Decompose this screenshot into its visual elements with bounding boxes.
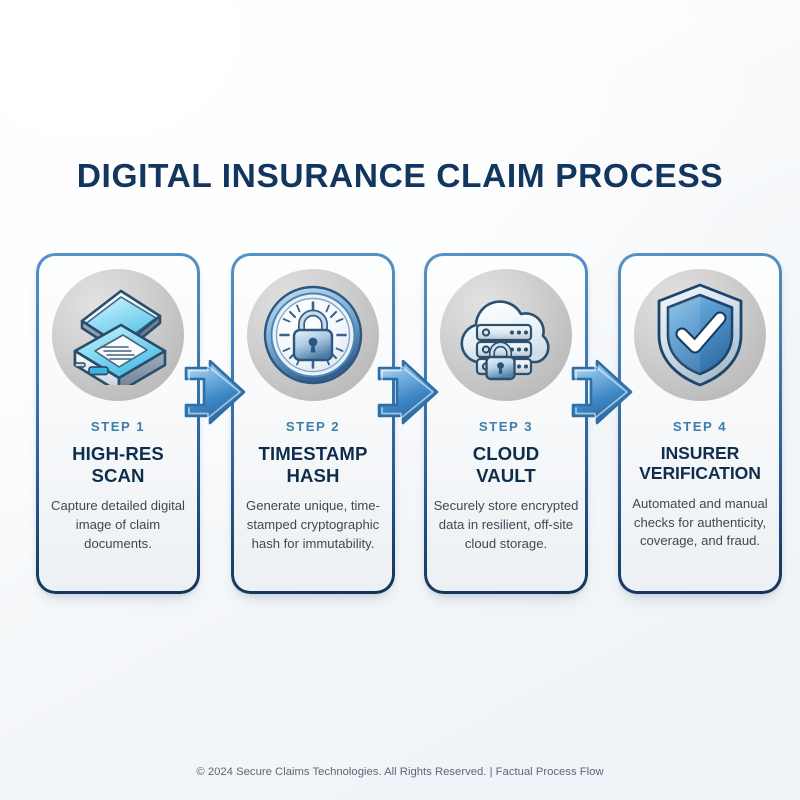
step-label-3: STEP 3 — [479, 419, 533, 434]
step-title-line: SCAN — [72, 465, 164, 487]
step-title-3: CLOUD VAULT — [473, 443, 540, 486]
step-card-2[interactable]: STEP 2 TIMESTAMP HASH Generate unique, t… — [231, 253, 395, 594]
step-title-line: VAULT — [473, 465, 540, 487]
step-card-4[interactable]: STEP 4 INSURER VERIFICATION Automated an… — [618, 253, 782, 594]
shield-check-icon — [634, 269, 766, 401]
step-title-line: CLOUD — [473, 443, 540, 465]
step-title-line: TIMESTAMP — [258, 443, 367, 465]
step-description-1: Capture detailed digital image of claim … — [45, 497, 191, 553]
step-title-line: HASH — [258, 465, 367, 487]
clock-padlock-icon — [247, 269, 379, 401]
step-description-3: Securely store encrypted data in resilie… — [433, 497, 579, 553]
step-title-line: HIGH-RES — [72, 443, 164, 465]
footer-copyright: © 2024 Secure Claims Technologies. All R… — [0, 766, 800, 778]
step-title-4: INSURER VERIFICATION — [639, 443, 761, 484]
step-description-2: Generate unique, time-stamped cryptograp… — [240, 497, 386, 553]
step-title-line: VERIFICATION — [639, 463, 761, 483]
infographic-canvas: DIGITAL INSURANCE CLAIM PROCESS — [0, 0, 800, 800]
step-description-4: Automated and manual checks for authenti… — [627, 495, 773, 551]
step-card-1[interactable]: STEP 1 HIGH-RES SCAN Capture detailed di… — [36, 253, 200, 594]
step-title-1: HIGH-RES SCAN — [72, 443, 164, 486]
step-title-2: TIMESTAMP HASH — [258, 443, 367, 486]
step-label-2: STEP 2 — [286, 419, 340, 434]
step-label-1: STEP 1 — [91, 419, 145, 434]
page-title: DIGITAL INSURANCE CLAIM PROCESS — [0, 158, 800, 196]
cloud-server-lock-icon — [440, 269, 572, 401]
step-title-line: INSURER — [639, 443, 761, 463]
step-label-4: STEP 4 — [673, 419, 727, 434]
flatbed-scanner-icon — [52, 269, 184, 401]
step-card-3[interactable]: STEP 3 CLOUD VAULT Securely store encryp… — [424, 253, 588, 594]
